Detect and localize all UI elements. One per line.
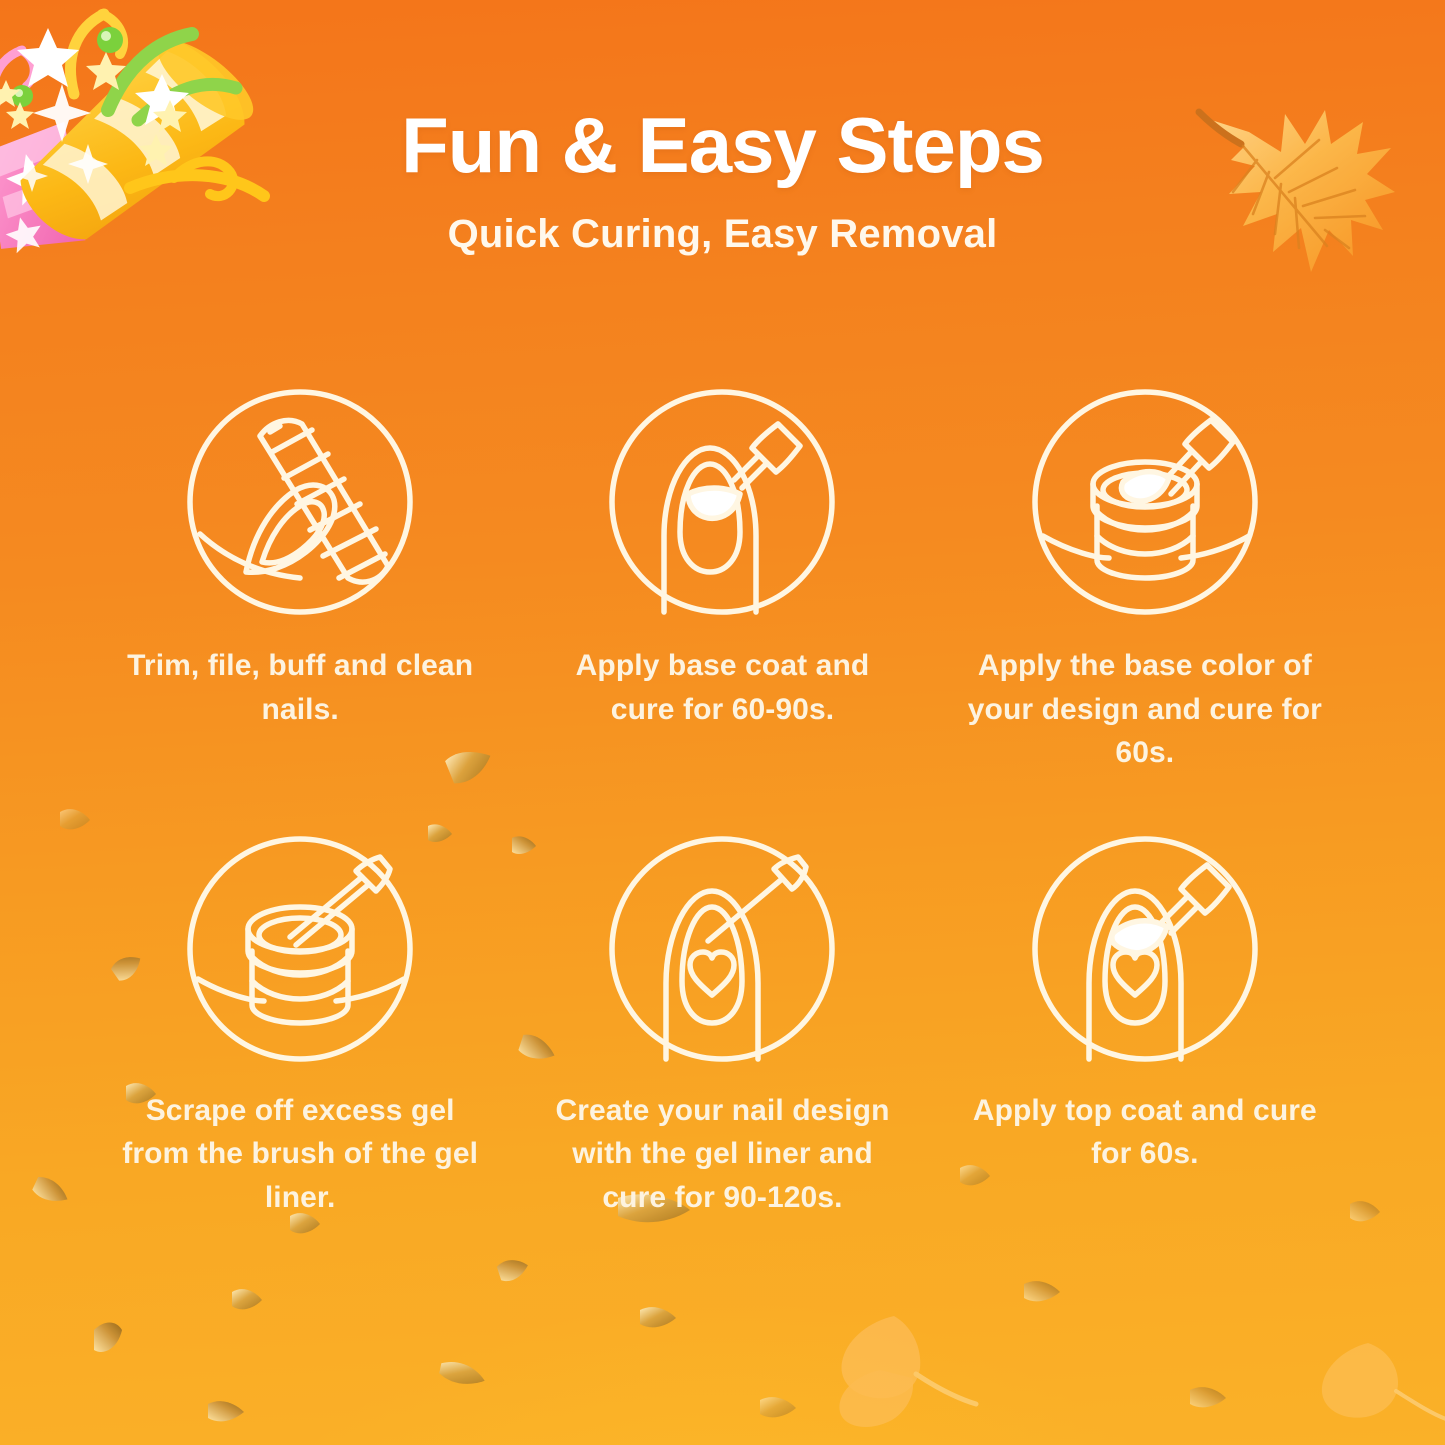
header: Fun & Easy Steps Quick Curing, Easy Remo…: [0, 106, 1445, 257]
step-6-caption: Apply top coat and cure for 60s.: [965, 1089, 1325, 1176]
steps-grid: Trim, file, buff and clean nails.: [96, 386, 1349, 1219]
step-3-caption: Apply the base color of your design and …: [965, 644, 1325, 775]
infographic-canvas: Fun & Easy Steps Quick Curing, Easy Remo…: [0, 0, 1445, 1445]
step-5-caption: Create your nail design with the gel lin…: [542, 1089, 902, 1220]
step-2: Apply base coat and cure for 60-90s.: [518, 386, 926, 775]
base-coat-brush-icon: [606, 386, 838, 618]
step-4: Scrape off excess gel from the brush of …: [96, 833, 504, 1220]
step-2-caption: Apply base coat and cure for 60-90s.: [542, 644, 902, 731]
step-4-caption: Scrape off excess gel from the brush of …: [120, 1089, 480, 1220]
page-subtitle: Quick Curing, Easy Removal: [0, 212, 1445, 257]
page-title: Fun & Easy Steps: [0, 106, 1445, 184]
step-3: Apply the base color of your design and …: [941, 386, 1349, 775]
nail-file-buff-icon: [184, 386, 416, 618]
nail-heart-design-icon: [606, 833, 838, 1065]
step-1-caption: Trim, file, buff and clean nails.: [120, 644, 480, 731]
gel-liner-scrape-icon: [184, 833, 416, 1065]
step-5: Create your nail design with the gel lin…: [518, 833, 926, 1220]
step-6: Apply top coat and cure for 60s.: [941, 833, 1349, 1220]
ginkgo-leaf-icon: [820, 1300, 1010, 1435]
step-1: Trim, file, buff and clean nails.: [96, 386, 504, 775]
ginkgo-leaf-secondary-icon: [1310, 1335, 1445, 1445]
gel-pot-brush-icon: [1029, 386, 1261, 618]
top-coat-brush-icon: [1029, 833, 1261, 1065]
